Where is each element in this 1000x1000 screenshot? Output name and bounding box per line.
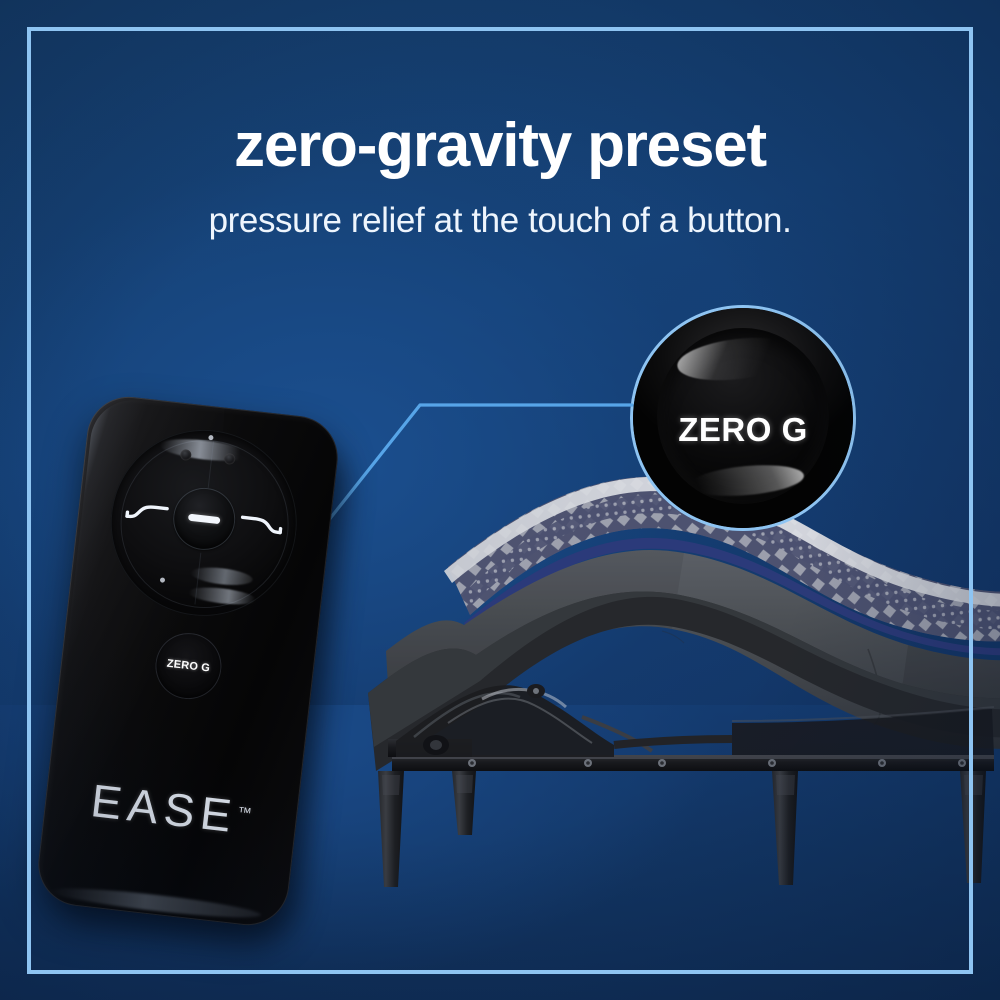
promo-image: ZERO G [0, 0, 1000, 1000]
remote-zero-g-label: ZERO G [155, 656, 222, 675]
flat-icon [188, 514, 221, 525]
page-subtitle: pressure relief at the touch of a button… [0, 203, 1000, 238]
zero-g-button-magnifier: ZERO G [630, 305, 856, 531]
page-title: zero-gravity preset [0, 115, 1000, 177]
bed-illustration [352, 455, 1000, 925]
magnifier-inner: ZERO G [633, 308, 853, 528]
bed-legs [378, 771, 986, 887]
magnified-zero-g-label: ZERO G [633, 411, 853, 449]
trademark-symbol: ™ [237, 803, 253, 820]
adjustable-bed [352, 455, 1000, 925]
